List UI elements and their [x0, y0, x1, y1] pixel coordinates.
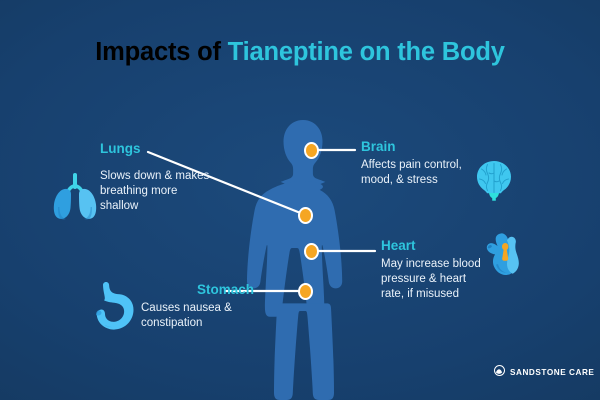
- sandstone-care-logo[interactable]: SANDSTONE CARE: [494, 363, 594, 381]
- callout-heart-description: May increase blood pressure & heart rate…: [381, 257, 491, 303]
- callout-lungs-description: Slows down & makes breathing more shallo…: [100, 169, 210, 215]
- callout-lungs-heading: Lungs: [100, 142, 210, 157]
- hotspot-dot-stomach[interactable]: [298, 283, 313, 300]
- lungs-icon: [52, 172, 98, 225]
- body-silhouette: [233, 118, 373, 400]
- callout-lungs: Lungs Slows down & makes breathing more …: [100, 142, 210, 214]
- stomach-icon: [88, 282, 136, 337]
- callout-heart: Heart May increase blood pressure & hear…: [381, 239, 491, 302]
- heart-icon: [483, 231, 527, 284]
- callout-brain-description: Affects pain control, mood, & stress: [361, 158, 476, 188]
- hotspot-dot-lungs[interactable]: [298, 207, 313, 224]
- page-title: Impacts of Tianeptine on the Body: [0, 40, 600, 66]
- callout-brain: Brain Affects pain control, mood, & stre…: [361, 140, 476, 188]
- logo-text: SANDSTONE CARE: [510, 368, 594, 377]
- callout-stomach-description: Causes nausea & constipation: [137, 301, 257, 331]
- callout-heart-heading: Heart: [381, 239, 491, 254]
- infographic-canvas: Impacts of Tianeptine on the Body Lungs …: [0, 0, 600, 400]
- brain-icon: [473, 160, 515, 207]
- callout-stomach: Stomach Causes nausea & constipation: [137, 283, 257, 331]
- title-lead: Impacts of: [95, 38, 227, 66]
- title-accent: Tianeptine on the Body: [228, 38, 505, 66]
- sandstone-circle-mark-icon: [494, 363, 505, 381]
- hotspot-dot-brain[interactable]: [304, 142, 319, 159]
- callout-stomach-heading: Stomach: [137, 283, 257, 298]
- callout-brain-heading: Brain: [361, 140, 476, 155]
- hotspot-dot-heart[interactable]: [304, 243, 319, 260]
